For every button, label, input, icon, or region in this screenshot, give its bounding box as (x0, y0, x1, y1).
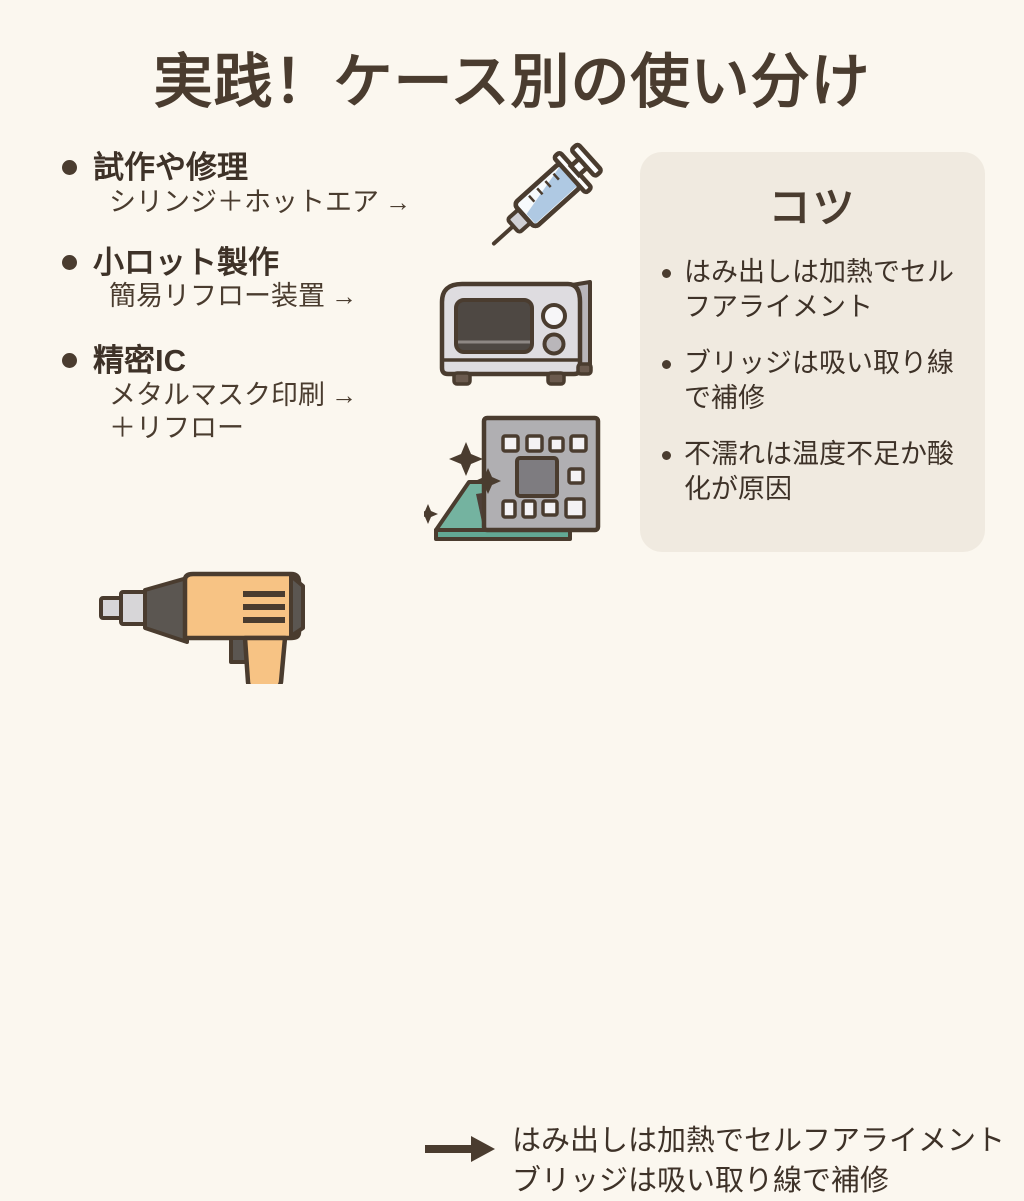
bottom-summary-line-2: ブリッジは吸い取り線で補修 (512, 1161, 1005, 1201)
tips-panel: コツ はみ出しは加熱でセルフアライメント ブリッジは吸い取り線で補修 不濡れは温… (640, 152, 985, 552)
ic-chip-icon (424, 412, 619, 552)
arrow-right-large-icon (425, 1134, 497, 1164)
bottom-summary-text: はみ出しは加熱でセルフアライメント ブリッジは吸い取り線で補修 (512, 1121, 1005, 1201)
bullet-dot-icon (62, 160, 77, 175)
toaster-oven-icon (428, 272, 608, 395)
bottom-summary-row: はみ出しは加熱でセルフアライメント ブリッジは吸い取り線で補修 (95, 556, 995, 682)
bullet-dot-icon (662, 360, 671, 369)
heat-gun-icon (95, 564, 335, 689)
tips-list: はみ出しは加熱でセルフアライメント ブリッジは吸い取り線で補修 不濡れは温度不足… (640, 255, 985, 506)
tips-list-item: はみ出しは加熱でセルフアライメント (656, 255, 969, 324)
case-title: 小ロット製作 (93, 245, 279, 281)
tips-item-text: 不濡れは温度不足か酸化が原因 (684, 439, 954, 504)
page-title: 実践！ケース別の使い分け (0, 34, 1024, 119)
case-title: 試作や修理 (93, 150, 248, 186)
bottom-summary-line-1: はみ出しは加熱でセルフアライメント (512, 1121, 1005, 1161)
arrow-right-icon: → (325, 380, 357, 410)
bullet-dot-icon (662, 451, 671, 460)
tips-list-item: 不濡れは温度不足か酸化が原因 (656, 437, 969, 506)
syringe-icon (470, 140, 610, 270)
tips-panel-title: コツ (640, 174, 985, 235)
case-subtitle: 簡易リフロー装置 (109, 281, 325, 311)
bullet-dot-icon (62, 353, 77, 368)
case-subtitle: シリンジ＋ホットエア (109, 187, 379, 217)
arrow-right-icon: → (379, 187, 411, 217)
bullet-dot-icon (62, 255, 77, 270)
case-subtitle: メタルマスク印刷 (109, 380, 325, 410)
slide-root: 実践！ケース別の使い分け 試作や修理 シリンジ＋ホットエア→ 小ロット製作 簡易… (0, 0, 1024, 683)
bullet-dot-icon (662, 269, 671, 278)
tips-list-item: ブリッジは吸い取り線で補修 (656, 346, 969, 415)
tips-item-text: ブリッジは吸い取り線で補修 (684, 348, 954, 413)
tips-item-text: はみ出しは加熱でセルフアライメント (684, 257, 954, 322)
arrow-right-icon: → (325, 281, 357, 311)
case-title: 精密IC (93, 343, 186, 379)
